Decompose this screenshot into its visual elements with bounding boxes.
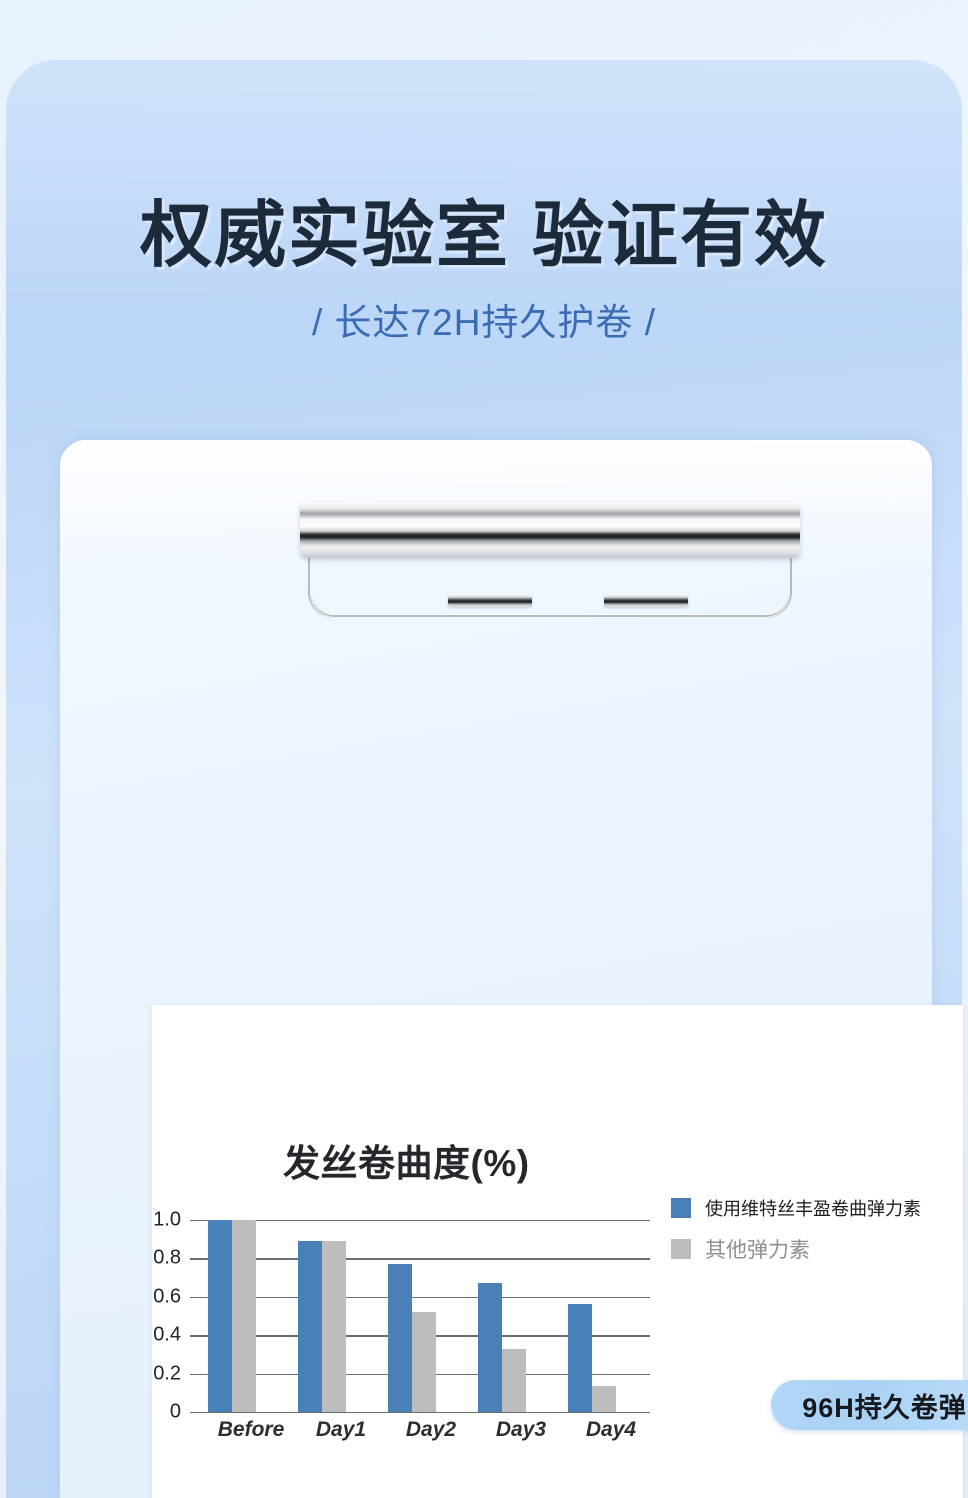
bar-other: [412, 1312, 436, 1412]
bar-brand: [568, 1304, 592, 1412]
bar-group: [208, 1220, 294, 1412]
bar-brand: [388, 1264, 412, 1412]
headline-block: 权威实验室 验证有效 / 长达72H持久护卷 /: [0, 195, 968, 346]
bar-brand: [298, 1241, 322, 1412]
bar-other: [322, 1241, 346, 1412]
legend-item: 其他弹力素: [671, 1234, 921, 1264]
clip-foot-left: [448, 594, 532, 607]
bar-brand: [478, 1283, 502, 1412]
clip-metal-bar: [300, 502, 800, 558]
bar-group: [478, 1220, 564, 1412]
legend-swatch-other-icon: [671, 1239, 691, 1259]
chart1-ytick: 0: [170, 1401, 181, 1424]
clipboard-board: 发丝卷曲度(%) 1.0 0.8 0.6 0.4 0.2 0: [60, 440, 932, 1498]
chart1-ytick: 0.4: [153, 1324, 181, 1347]
report-paper: 发丝卷曲度(%) 1.0 0.8 0.6 0.4 0.2 0: [152, 1005, 963, 1498]
bar-group: [388, 1220, 474, 1412]
chart1-ytick: 1.0: [153, 1209, 181, 1232]
bar-other: [232, 1220, 256, 1412]
chart-curl-retention: 发丝卷曲度(%) 1.0 0.8 0.6 0.4 0.2 0: [152, 1005, 963, 1498]
chart1-plot-area: 1.0 0.8 0.6 0.4 0.2 0: [190, 1220, 650, 1412]
page-title: 权威实验室 验证有效: [0, 195, 968, 278]
chart1-ytick: 0.2: [153, 1362, 181, 1385]
legend-label: 其他弹力素: [705, 1234, 810, 1264]
legend-item: 使用维特丝丰盈卷曲弹力素: [671, 1195, 921, 1221]
bar-other: [502, 1349, 526, 1412]
gridline: [190, 1412, 650, 1413]
status-badge-curl: 96H持久卷弹: [771, 1380, 968, 1430]
clipboard-clip-icon: [300, 502, 800, 622]
chart1-ytick: 0.8: [153, 1247, 181, 1270]
legend-swatch-brand-icon: [671, 1198, 691, 1218]
bar-group: [568, 1220, 654, 1412]
chart1-title: 发丝卷曲度(%): [283, 1133, 530, 1187]
clip-foot-right: [604, 594, 688, 607]
legend-label: 使用维特丝丰盈卷曲弹力素: [705, 1195, 921, 1221]
bar-other: [592, 1386, 616, 1412]
bar-group: [298, 1220, 384, 1412]
bar-brand: [208, 1220, 232, 1412]
chart1-ytick: 0.6: [153, 1285, 181, 1308]
chart1-legend: 使用维特丝丰盈卷曲弹力素 其他弹力素: [671, 1195, 921, 1277]
page-subtitle: / 长达72H持久护卷 /: [0, 292, 968, 346]
chart1-xtick: Day4: [556, 1418, 666, 1442]
